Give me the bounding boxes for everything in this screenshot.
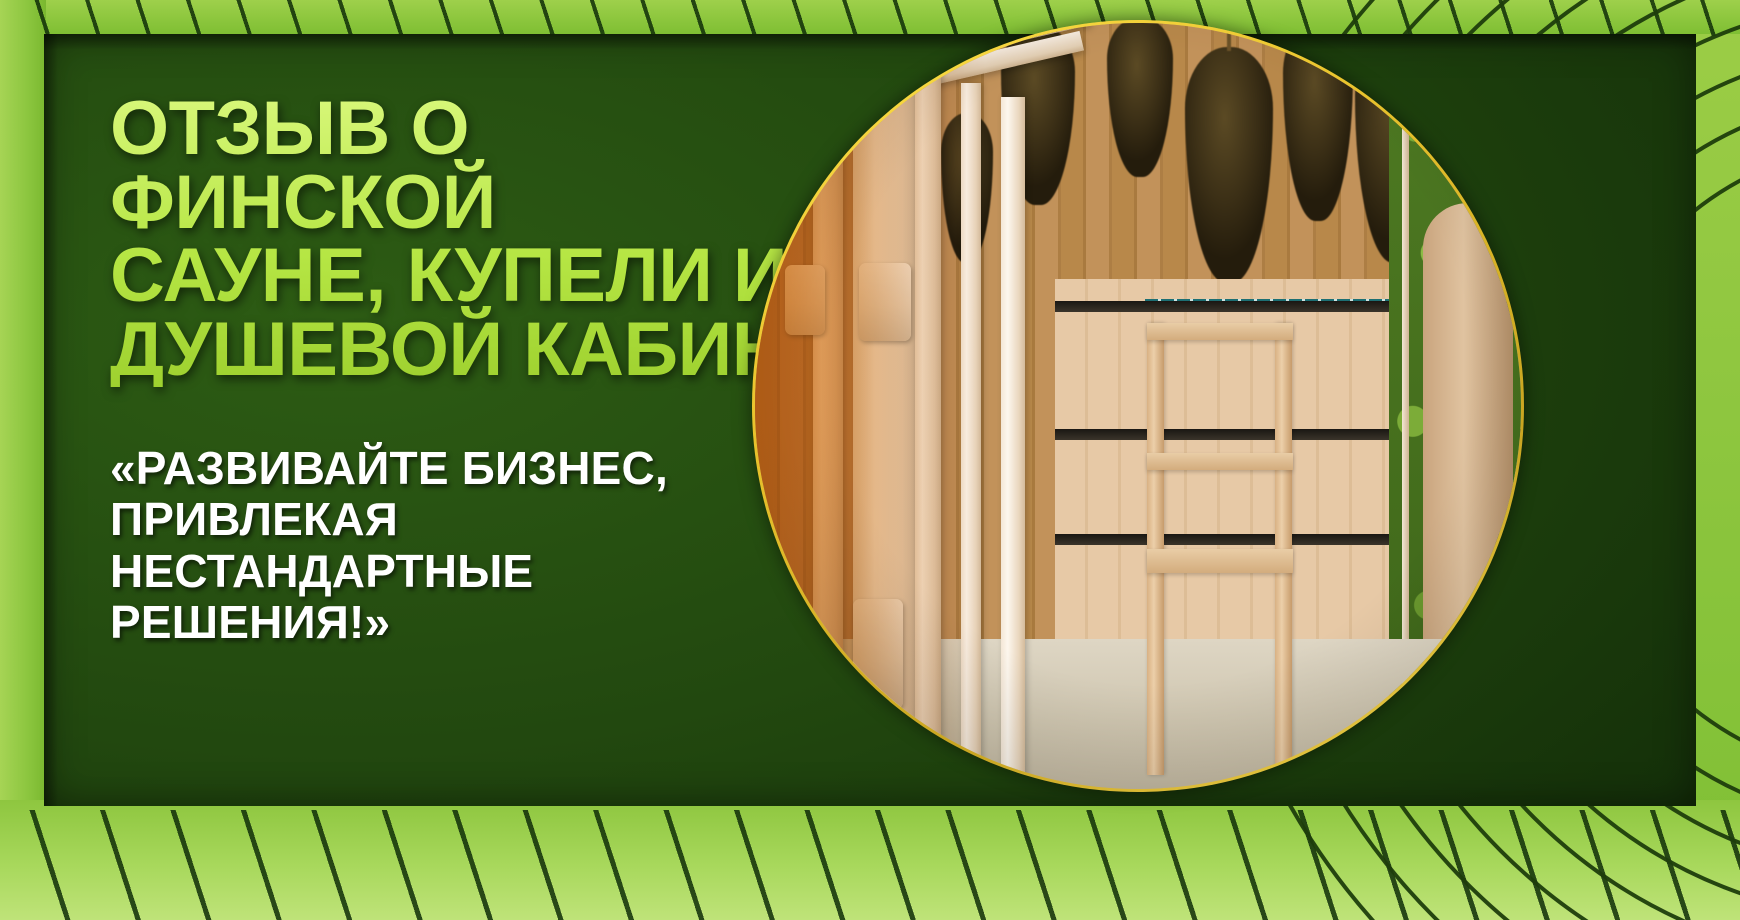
banner-stage: ОТЗЫВ О ФИНСКОЙ САУНЕ, КУПЕЛИ И ДУШЕВОЙ … [0,0,1740,920]
photo-vignette [755,23,1521,789]
frame-bottom-strip [0,800,1740,920]
frame-left-strip [0,0,46,920]
circular-photo-frame [752,20,1524,792]
sauna-interior-photo [755,23,1521,789]
panel-left-shadow [44,34,58,806]
